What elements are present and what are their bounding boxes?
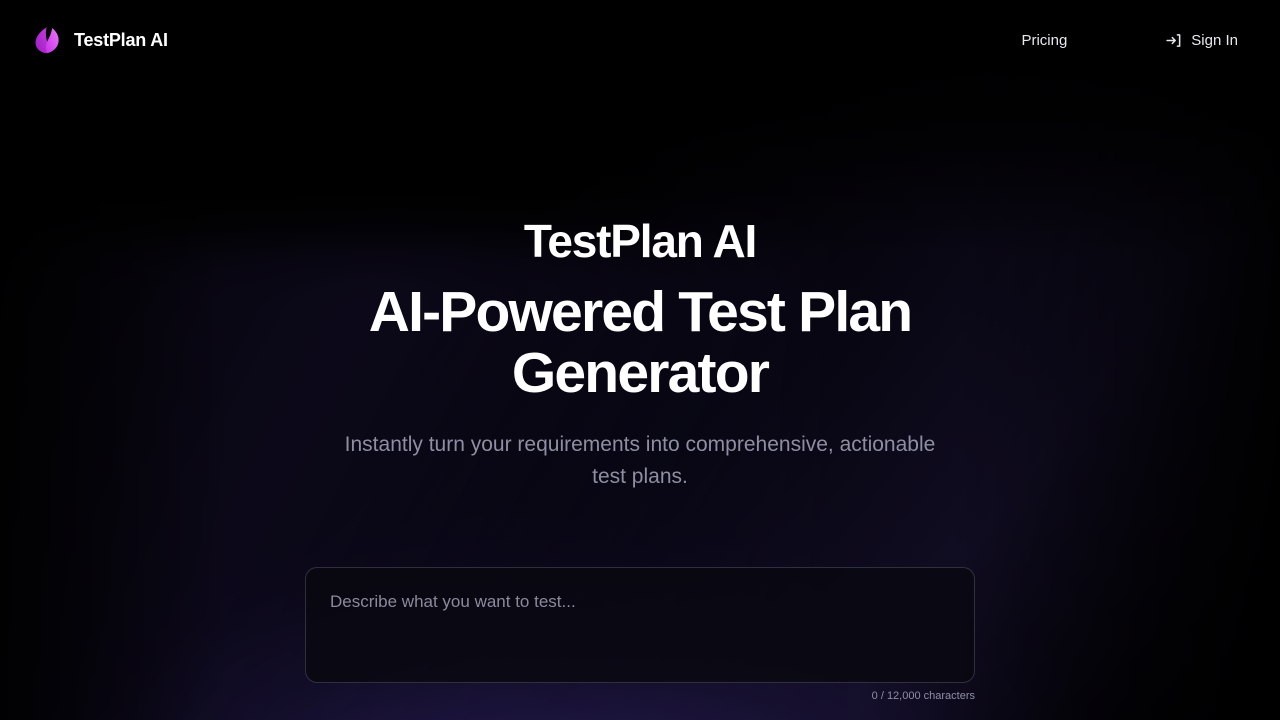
hero-subtitle: Instantly turn your requirements into co… [340,429,940,493]
prompt-textarea[interactable] [306,568,974,682]
flame-leaf-icon [34,26,60,54]
nav-link-signin[interactable]: Sign In [1155,24,1248,57]
site-header: TestPlan AI Pricing Sign In [0,0,1280,80]
brand-logo-link[interactable]: TestPlan AI [34,26,168,54]
hero-eyebrow: TestPlan AI [524,214,756,268]
page-title: AI-Powered Test Plan Generator [320,282,960,403]
brand-name: TestPlan AI [74,31,168,49]
primary-nav: Pricing Sign In [1011,24,1248,57]
nav-signin-label: Sign In [1191,33,1238,48]
character-counter: 0 / 12,000 characters [305,690,975,703]
prompt-input-container[interactable] [305,567,975,683]
nav-link-pricing[interactable]: Pricing [1011,25,1077,56]
log-in-icon [1165,32,1182,49]
prompt-composer: 0 / 12,000 characters [305,567,975,703]
